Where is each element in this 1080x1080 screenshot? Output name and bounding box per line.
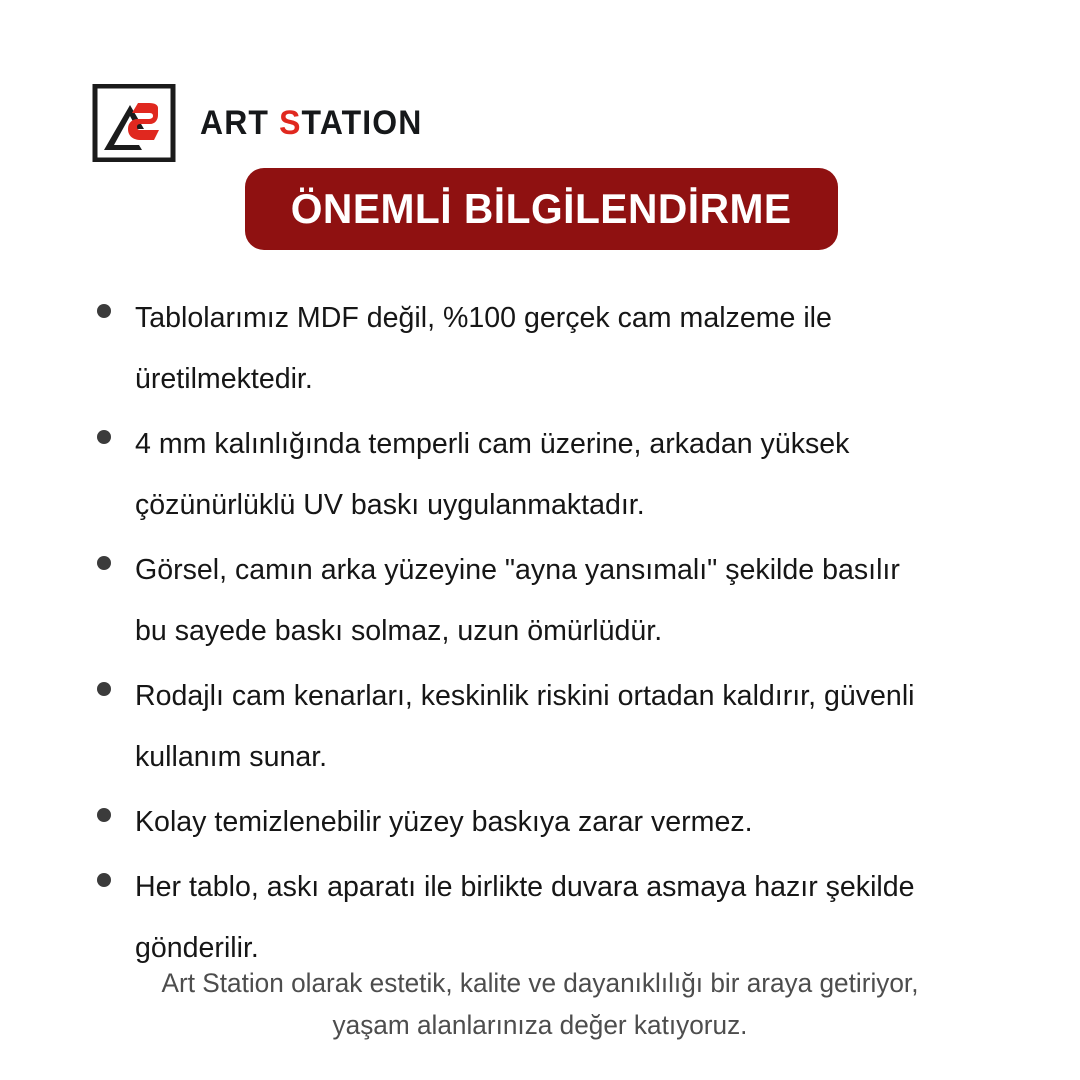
bullet-dot-icon xyxy=(97,873,111,887)
bullet-dot-icon xyxy=(97,304,111,318)
notice-banner: ÖNEMLİ BİLGİLENDİRME xyxy=(245,168,838,250)
bullet-dot-icon xyxy=(97,430,111,444)
banner-title: ÖNEMLİ BİLGİLENDİRME xyxy=(291,188,792,230)
list-item-text: Tablolarımız MDF değil, %100 gerçek cam … xyxy=(135,288,1014,410)
list-item: Rodajlı cam kenarları, keskinlik riskini… xyxy=(97,666,1027,788)
list-item: Kolay temizlenebilir yüzey baskıya zarar… xyxy=(97,792,1027,853)
footer-tagline: Art Station olarak estetik, kalite ve da… xyxy=(0,962,1080,1046)
bullet-dot-icon xyxy=(97,808,111,822)
wordmark-accent-s: S xyxy=(279,104,301,142)
art-station-monogram-icon xyxy=(92,84,178,162)
list-item-line: bu sayede baskı solmaz, uzun ömürlüdür. xyxy=(135,601,1014,662)
list-item: Her tablo, askı aparatı ile birlikte duv… xyxy=(97,857,1027,979)
list-item-text: Her tablo, askı aparatı ile birlikte duv… xyxy=(135,857,1014,979)
list-item-text: Görsel, camın arka yüzeyine "ayna yansım… xyxy=(135,540,1014,662)
list-item-line: 4 mm kalınlığında temperli cam üzerine, … xyxy=(135,414,1014,475)
wordmark-part-tation: TATION xyxy=(302,104,423,142)
list-item-text: 4 mm kalınlığında temperli cam üzerine, … xyxy=(135,414,1014,536)
information-poster: ART STATION ÖNEMLİ BİLGİLENDİRME Tablola… xyxy=(0,0,1080,1080)
footer-line-1: Art Station olarak estetik, kalite ve da… xyxy=(104,962,977,1004)
list-item-line: Kolay temizlenebilir yüzey baskıya zarar… xyxy=(135,792,1014,853)
list-item-line: kullanım sunar. xyxy=(135,727,1014,788)
list-item-line: Görsel, camın arka yüzeyine "ayna yansım… xyxy=(135,540,1014,601)
list-item: Tablolarımız MDF değil, %100 gerçek cam … xyxy=(97,288,1027,410)
list-item-line: Her tablo, askı aparatı ile birlikte duv… xyxy=(135,857,1014,918)
list-item-line: Tablolarımız MDF değil, %100 gerçek cam … xyxy=(135,288,1014,410)
wordmark-part-art: ART xyxy=(200,104,279,142)
list-item: Görsel, camın arka yüzeyine "ayna yansım… xyxy=(97,540,1027,662)
footer-line-2: yaşam alanlarınıza değer katıyoruz. xyxy=(104,1004,977,1046)
information-bullet-list: Tablolarımız MDF değil, %100 gerçek cam … xyxy=(97,288,1027,983)
list-item-line: çözünürlüklü UV baskı uygulanmaktadır. xyxy=(135,475,1014,536)
list-item: 4 mm kalınlığında temperli cam üzerine, … xyxy=(97,414,1027,536)
bullet-dot-icon xyxy=(97,556,111,570)
list-item-text: Kolay temizlenebilir yüzey baskıya zarar… xyxy=(135,792,1014,853)
bullet-dot-icon xyxy=(97,682,111,696)
brand-header: ART STATION xyxy=(92,84,437,162)
list-item-line: Rodajlı cam kenarları, keskinlik riskini… xyxy=(135,666,1014,727)
brand-wordmark: ART STATION xyxy=(200,106,423,140)
list-item-text: Rodajlı cam kenarları, keskinlik riskini… xyxy=(135,666,1014,788)
